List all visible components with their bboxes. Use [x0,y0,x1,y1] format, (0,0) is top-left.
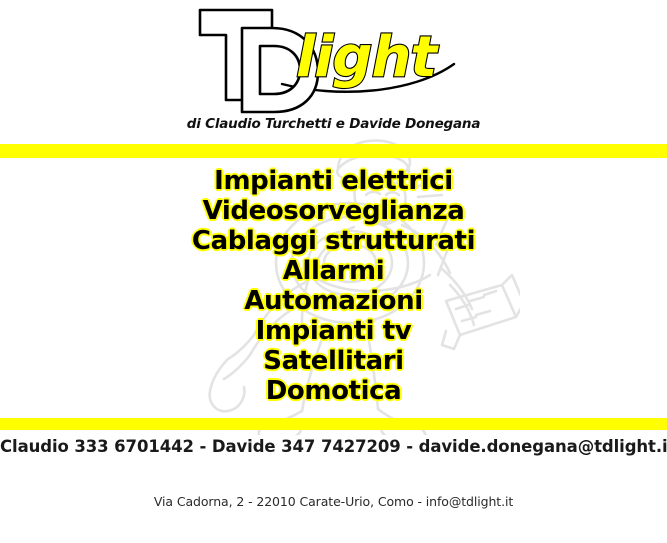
logo-header: light di Claudio Turchetti e Davide Done… [0,0,667,142]
list-item: Domotica [0,376,667,406]
list-item: Impianti tv [0,316,667,346]
list-item: Videosorveglianza [0,196,667,226]
list-item: Satellitari [0,346,667,376]
contact-phone-email-line: Claudio 333 6701442 - Davide 347 7427209… [0,437,667,456]
svg-text:light: light [296,25,439,90]
list-item: Automazioni [0,286,667,316]
tdlight-logo-icon: light [186,2,476,114]
divider-top [0,144,667,158]
list-item: Cablaggi strutturati [0,226,667,256]
contact-address-line: Via Cadorna, 2 - 22010 Carate-Urio, Como… [0,494,667,509]
services-list: Impianti elettrici Videosorveglianza Cab… [0,166,667,406]
divider-bottom [0,418,667,430]
list-item: Impianti elettrici [0,166,667,196]
list-item: Allarmi [0,256,667,286]
logo-tagline: di Claudio Turchetti e Davide Donegana [0,116,667,132]
business-card: light di Claudio Turchetti e Davide Done… [0,0,667,543]
